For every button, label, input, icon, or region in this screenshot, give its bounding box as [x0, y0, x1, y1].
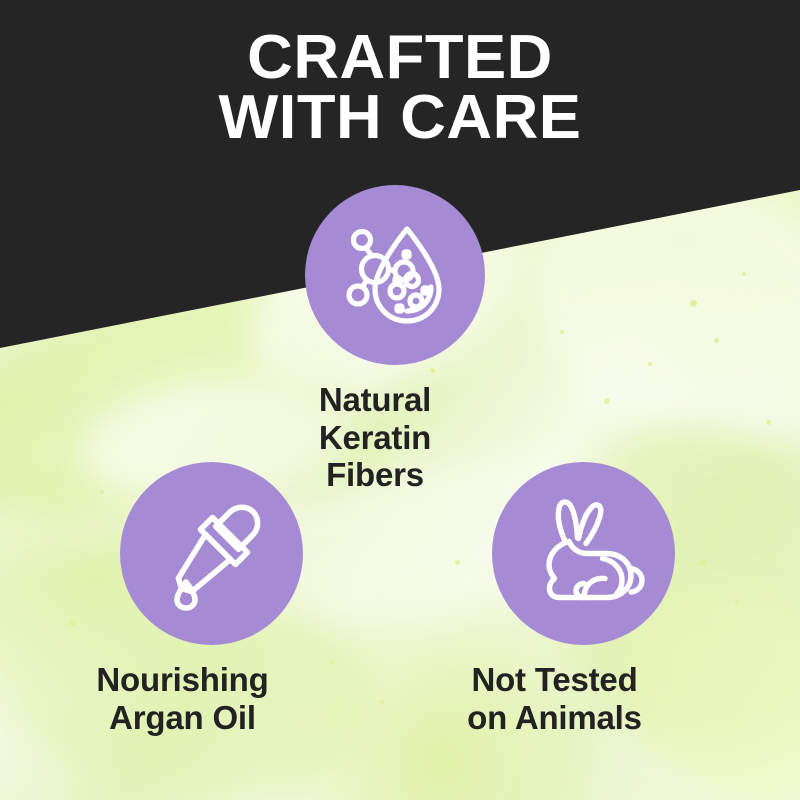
badge-label-cruelty: Not Tested on Animals: [405, 661, 705, 736]
page-title-line-2: WITH CARE: [0, 88, 800, 148]
crafted-with-care-poster: CRAFTED WITH CARE: [0, 0, 800, 800]
droplet-molecule-icon: [335, 215, 455, 335]
badge-label-argan: Nourishing Argan Oil: [33, 661, 333, 736]
badge-nourishing-argan-oil: Nourishing Argan Oil: [120, 462, 303, 736]
badge-natural-keratin-fibers: Natural Keratin Fibers: [305, 185, 485, 494]
page-title-line-1: CRAFTED: [0, 28, 800, 88]
badge-not-tested-on-animals: Not Tested on Animals: [492, 462, 675, 736]
badge-circle-cruelty: [492, 462, 675, 645]
page-title: CRAFTED WITH CARE: [0, 28, 800, 147]
badge-circle-keratin: [305, 185, 485, 365]
dropper-pipette-icon: [150, 492, 274, 616]
badge-circle-argan: [120, 462, 303, 645]
rabbit-icon: [521, 496, 647, 612]
